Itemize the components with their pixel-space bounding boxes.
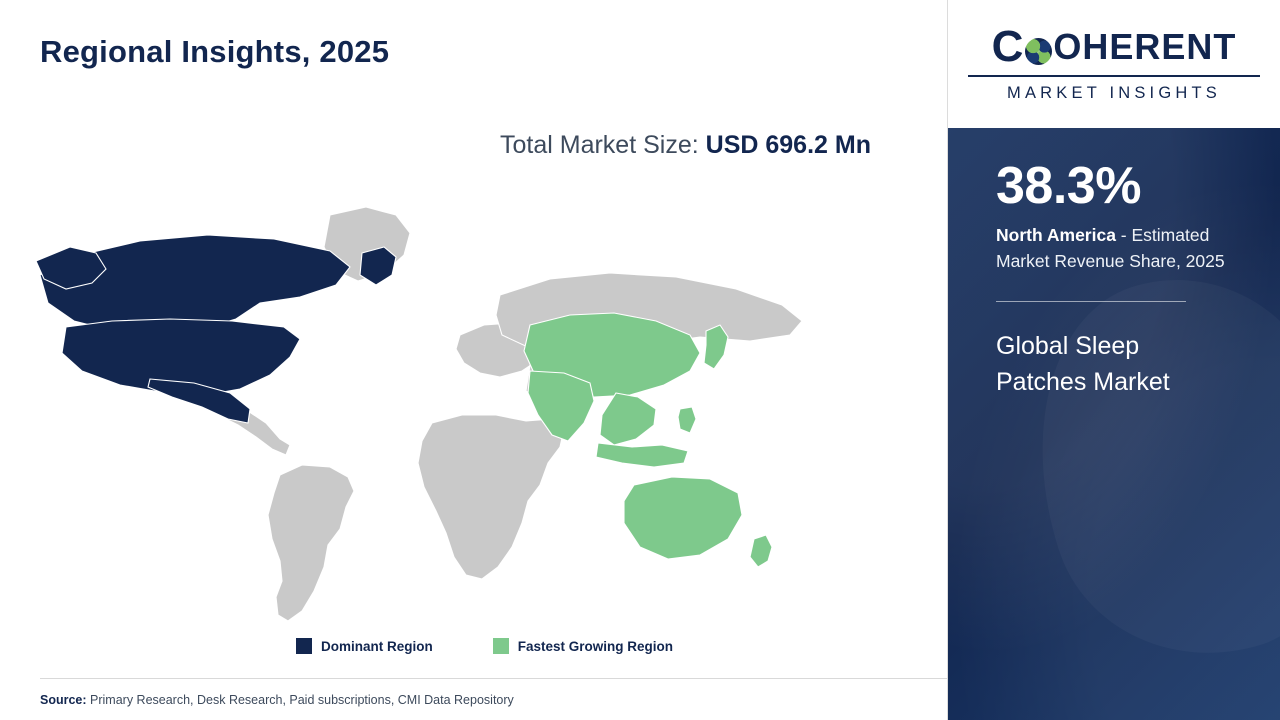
map-legend: Dominant Region Fastest Growing Region xyxy=(296,638,673,654)
source-text: Primary Research, Desk Research, Paid su… xyxy=(87,693,514,707)
regional-insights-infographic: Regional Insights, 2025 Total Market Siz… xyxy=(0,0,1280,720)
legend-label-dominant: Dominant Region xyxy=(321,639,433,654)
stat-region: North America xyxy=(996,225,1116,245)
map-dominant-region xyxy=(36,235,396,423)
stat-percent: 38.3% xyxy=(996,156,1232,216)
stat-divider xyxy=(996,301,1186,302)
logo-letter-c: C xyxy=(992,25,1025,69)
right-panel: C OHERENT MARKET INSIGHTS 38.3% North Am… xyxy=(948,0,1280,720)
market-name: Global Sleep Patches Market xyxy=(996,328,1232,401)
total-market-size-value: USD 696.2 Mn xyxy=(706,131,871,159)
source-label: Source: xyxy=(40,693,87,707)
legend-swatch-dominant xyxy=(296,638,312,654)
legend-swatch-fastest-growing xyxy=(493,638,509,654)
left-panel: Regional Insights, 2025 Total Market Siz… xyxy=(0,0,948,720)
logo-tagline: MARKET INSIGHTS xyxy=(968,84,1260,103)
logo-word-rest: OHERENT xyxy=(1053,29,1236,65)
legend-item-dominant: Dominant Region xyxy=(296,638,433,654)
page-title: Regional Insights, 2025 xyxy=(40,34,389,70)
total-market-size: Total Market Size: USD 696.2 Mn xyxy=(500,126,920,165)
stat-description: North America - Estimated Market Revenue… xyxy=(996,222,1232,275)
total-market-size-label: Total Market Size: xyxy=(500,131,699,159)
world-map xyxy=(30,175,890,625)
source-note: Source: Primary Research, Desk Research,… xyxy=(40,693,514,707)
legend-item-fastest-growing: Fastest Growing Region xyxy=(493,638,673,654)
stat-panel: 38.3% North America - Estimated Market R… xyxy=(948,128,1280,720)
logo-wordmark: C OHERENT xyxy=(968,25,1260,69)
legend-label-fastest-growing: Fastest Growing Region xyxy=(518,639,673,654)
logo-globe-icon xyxy=(1025,38,1052,65)
brand-logo: C OHERENT MARKET INSIGHTS xyxy=(948,0,1280,128)
logo-rule xyxy=(968,75,1260,77)
